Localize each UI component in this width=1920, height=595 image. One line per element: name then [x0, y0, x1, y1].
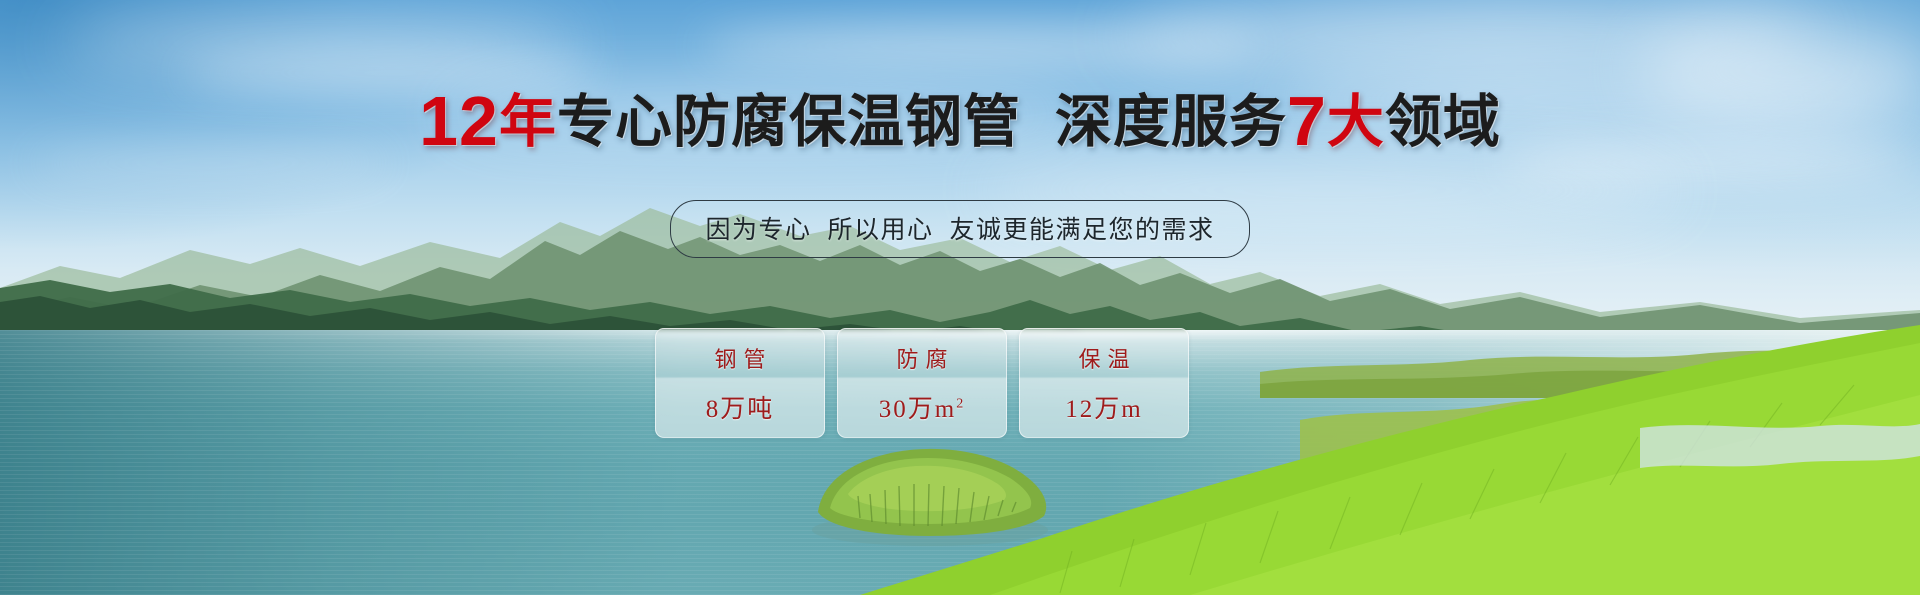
- stat-label: 保温: [1071, 349, 1136, 371]
- subtitle-segment-2: 所以用心: [827, 216, 933, 244]
- banner-headline: 12年专心防腐保温钢管深度服务7大领域: [0, 86, 1920, 156]
- stat-value: 12万m: [1065, 397, 1142, 422]
- stat-value: 30万m2: [879, 397, 965, 422]
- stat-label: 钢管: [707, 349, 772, 371]
- stat-value-text: 8万吨: [706, 396, 775, 423]
- hero-banner: 12年专心防腐保温钢管深度服务7大领域 因为专心所以用心友诚更能满足您的需求 钢…: [0, 0, 1920, 595]
- headline-part3: 领域: [1385, 90, 1501, 154]
- subtitle-segment-3: 友诚更能满足您的需求: [950, 216, 1215, 244]
- stat-value-superscript: 2: [956, 397, 965, 412]
- stat-value: 8万吨: [706, 397, 775, 422]
- subtitle-segment-1: 因为专心: [705, 216, 811, 244]
- stat-value-text: 12万m: [1065, 396, 1142, 423]
- stat-card-insulation: 保温 12万m: [1019, 328, 1189, 438]
- banner-content: 12年专心防腐保温钢管深度服务7大领域 因为专心所以用心友诚更能满足您的需求 钢…: [0, 0, 1920, 595]
- headline-part1: 专心防腐保温钢管: [557, 90, 1021, 154]
- stat-card-steel-pipe: 钢管 8万吨: [655, 328, 825, 438]
- stat-card-group: 钢管 8万吨 防腐 30万m2 保温 12万m: [655, 328, 1189, 438]
- banner-subtitle-pill: 因为专心所以用心友诚更能满足您的需求: [670, 200, 1249, 258]
- stat-value-text: 30万m: [879, 396, 956, 423]
- headline-part2: 深度服务: [1055, 90, 1287, 154]
- headline-years-number: 12: [419, 82, 499, 160]
- headline-years-unit: 年: [499, 90, 557, 154]
- banner-subtitle-wrap: 因为专心所以用心友诚更能满足您的需求: [0, 200, 1920, 258]
- headline-highlight-number: 7: [1287, 82, 1327, 160]
- headline-highlight-unit: 大: [1327, 90, 1385, 154]
- stat-card-anticorrosion: 防腐 30万m2: [837, 328, 1007, 438]
- stat-label: 防腐: [889, 349, 954, 371]
